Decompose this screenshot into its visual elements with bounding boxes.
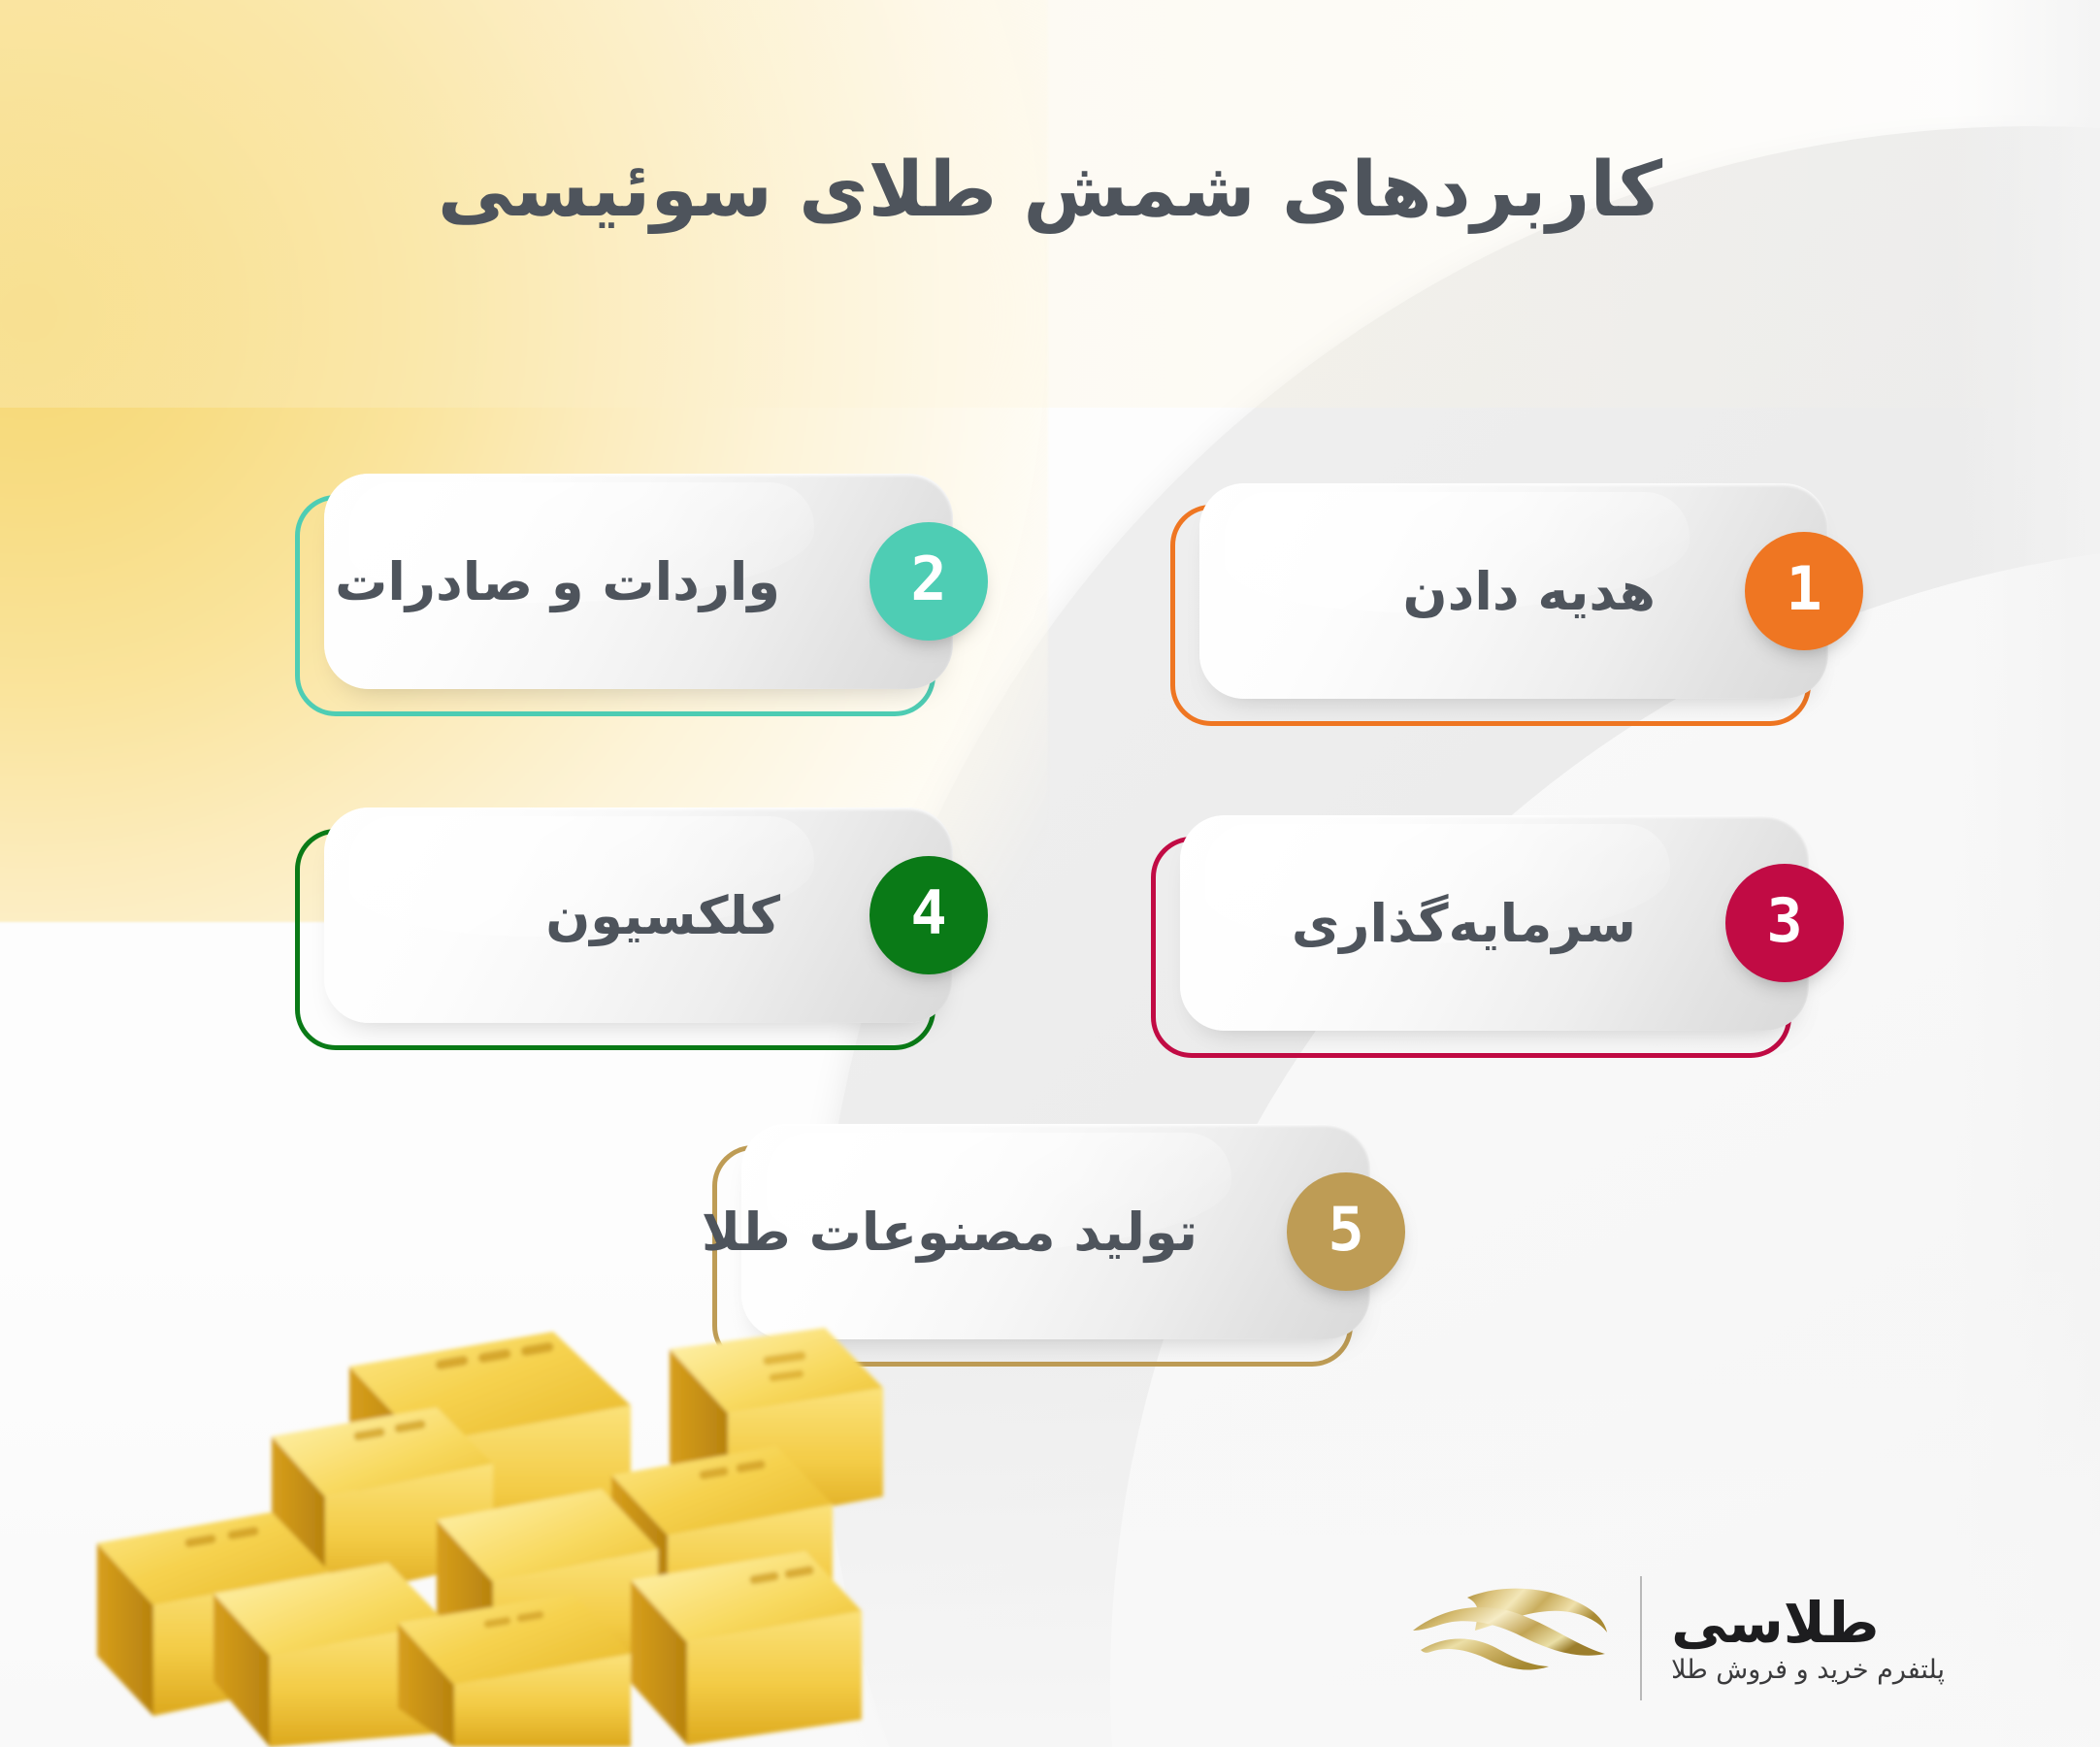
card-item-4[interactable]: کلکسیون 4 <box>311 808 951 1040</box>
card-label-2: واردات و صادرات <box>324 474 813 689</box>
card-item-2[interactable]: واردات و صادرات 2 <box>311 474 951 707</box>
card-label-4: کلکسیون <box>324 808 813 1023</box>
card-number-4: 4 <box>910 883 946 943</box>
card-number-3: 3 <box>1766 891 1802 951</box>
infographic-root: کاربردهای شمش طلای سوئیسی هدیه دادن 1 وا… <box>0 0 2100 1747</box>
gold-waves-logo-icon <box>1407 1580 1611 1697</box>
card-badge-2: 2 <box>870 522 988 641</box>
brand-logo: طلاسی پلتفرم خرید و فروش طلا <box>1407 1576 1945 1700</box>
card-number-2: 2 <box>910 549 946 610</box>
card-item-5[interactable]: تولید مصنوعات طلا 5 <box>728 1124 1368 1357</box>
card-item-1[interactable]: هدیه دادن 1 <box>1186 483 1826 716</box>
card-badge-3: 3 <box>1725 864 1844 982</box>
card-label-text-4: کلکسیون <box>324 885 813 946</box>
card-badge-4: 4 <box>870 856 988 974</box>
card-label-text-2: واردات و صادرات <box>324 551 813 612</box>
brand-text-block: طلاسی پلتفرم خرید و فروش طلا <box>1671 1595 1945 1683</box>
card-badge-5: 5 <box>1287 1172 1405 1291</box>
card-label-text-1: هدیه دادن <box>1199 561 1689 622</box>
brand-divider <box>1640 1576 1642 1700</box>
card-badge-1: 1 <box>1745 532 1863 650</box>
brand-name: طلاسی <box>1671 1595 1879 1651</box>
card-number-1: 1 <box>1786 559 1821 619</box>
card-item-3[interactable]: سرمایه‌گذاری 3 <box>1166 815 1807 1048</box>
card-label-3: سرمایه‌گذاری <box>1180 815 1669 1031</box>
card-label-text-5: تولید مصنوعات طلا <box>708 1202 1230 1263</box>
card-label-text-3: سرمایه‌گذاری <box>1180 893 1669 954</box>
brand-tagline: پلتفرم خرید و فروش طلا <box>1671 1657 1945 1683</box>
card-number-5: 5 <box>1328 1200 1363 1260</box>
card-label-5: تولید مصنوعات طلا <box>741 1124 1230 1339</box>
card-label-1: هدیه دادن <box>1199 483 1689 699</box>
